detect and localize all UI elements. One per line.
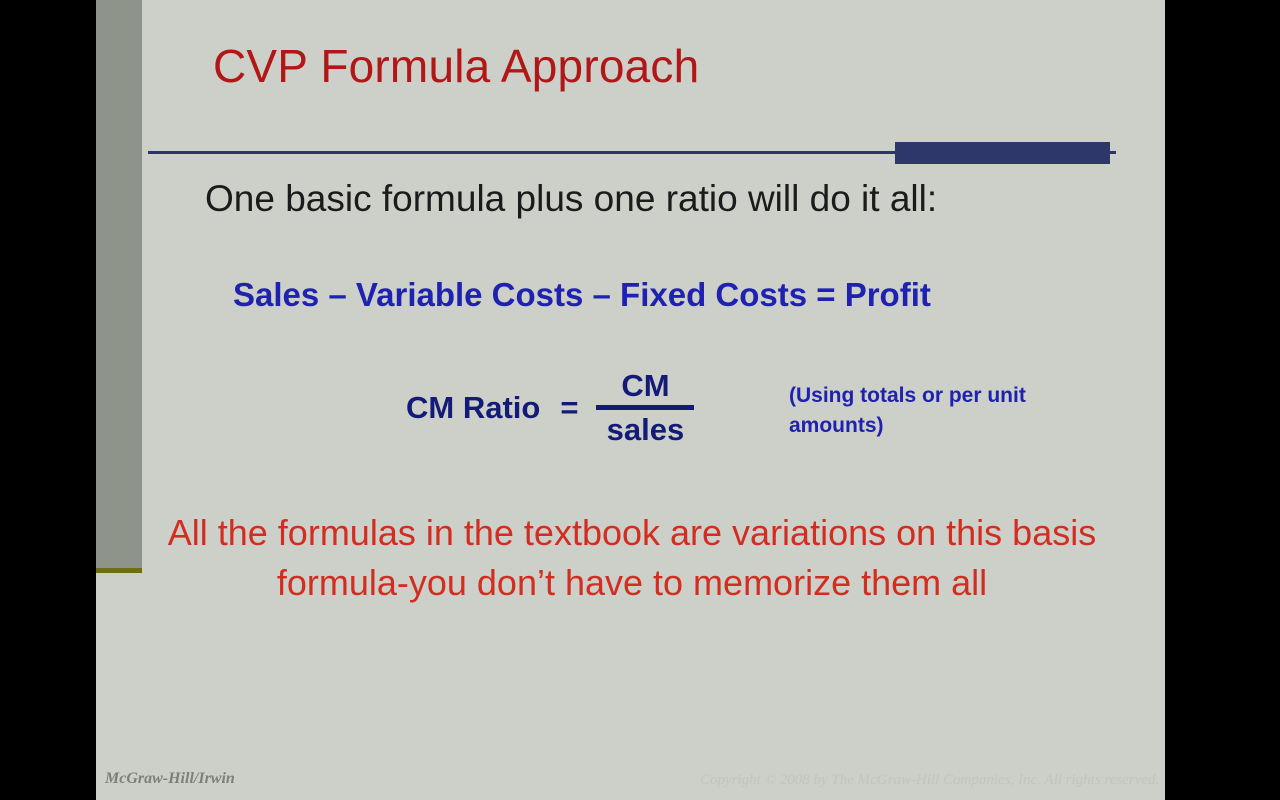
footer-publisher: McGraw-Hill/Irwin [105, 770, 235, 788]
cm-ratio-label: CM Ratio [406, 390, 540, 426]
equals-sign: = [560, 390, 578, 426]
fraction-denominator: sales [603, 414, 689, 445]
slide-stage: CVP Formula Approach One basic formula p… [0, 0, 1280, 800]
summary-paragraph: All the formulas in the textbook are var… [162, 508, 1102, 607]
slide-canvas: CVP Formula Approach One basic formula p… [96, 0, 1165, 800]
left-band-accent-line [96, 568, 142, 573]
cm-ratio-equation: CM Ratio = CM sales [406, 370, 694, 445]
intro-text: One basic formula plus one ratio will do… [205, 178, 937, 220]
title-accent-bar [895, 142, 1110, 164]
left-decorative-band [96, 0, 142, 568]
cm-over-sales-fraction: CM sales [596, 370, 694, 445]
letterbox-right [1165, 0, 1280, 800]
using-totals-note: (Using totals or per unit amounts) [789, 381, 1059, 442]
fraction-bar [596, 405, 694, 410]
footer-copyright: Copyright © 2008 by The McGraw-Hill Comp… [700, 772, 1159, 789]
letterbox-left [0, 0, 96, 800]
primary-formula: Sales – Variable Costs – Fixed Costs = P… [233, 276, 931, 314]
slide-title: CVP Formula Approach [213, 42, 699, 90]
fraction-numerator: CM [617, 370, 673, 401]
